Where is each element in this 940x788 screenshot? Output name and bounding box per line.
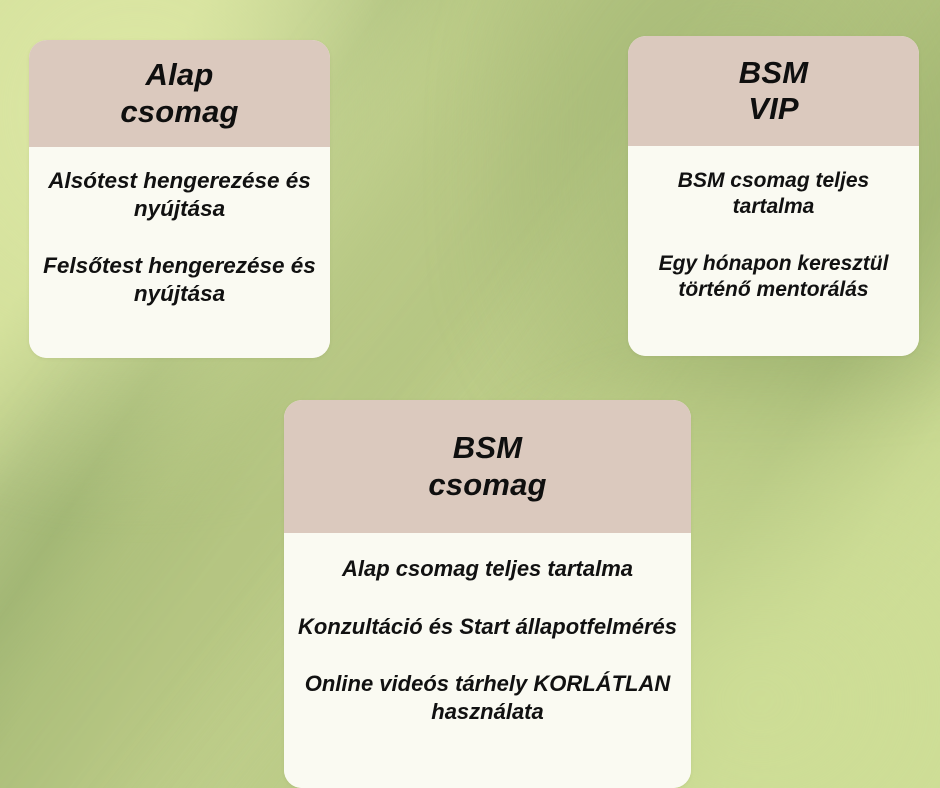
package-feature-item: Alsótest hengerezése és nyújtása — [37, 167, 322, 224]
package-card-alap-csomag[interactable]: Alap csomag Alsótest hengerezése és nyúj… — [29, 40, 330, 358]
package-feature-item: Konzultáció és Start állapotfelmérés — [298, 613, 677, 641]
pricing-packages-poster: Alap csomag Alsótest hengerezése és nyúj… — [0, 0, 940, 788]
package-title: BSM VIP — [739, 55, 809, 128]
package-title: BSM csomag — [428, 430, 546, 503]
package-feature-list: Alsótest hengerezése és nyújtása Felsőte… — [29, 147, 330, 358]
package-card-header: BSM VIP — [628, 36, 919, 146]
package-card-header: BSM csomag — [284, 400, 691, 533]
package-feature-list: Alap csomag teljes tartalma Konzultáció … — [284, 533, 691, 788]
package-card-header: Alap csomag — [29, 40, 330, 147]
package-card-bsm-csomag[interactable]: BSM csomag Alap csomag teljes tartalma K… — [284, 400, 691, 788]
package-card-bsm-vip[interactable]: BSM VIP BSM csomag teljes tartalma Egy h… — [628, 36, 919, 356]
package-feature-item: Alap csomag teljes tartalma — [342, 555, 633, 583]
package-feature-list: BSM csomag teljes tartalma Egy hónapon k… — [628, 146, 919, 356]
package-title: Alap csomag — [120, 57, 238, 130]
package-feature-item: BSM csomag teljes tartalma — [638, 168, 909, 221]
package-feature-item: Egy hónapon keresztül történő mentorálás — [638, 251, 909, 304]
package-feature-item: Online videós tárhely KORLÁTLAN használa… — [298, 670, 677, 725]
package-feature-item: Felsőtest hengerezése és nyújtása — [37, 252, 322, 309]
